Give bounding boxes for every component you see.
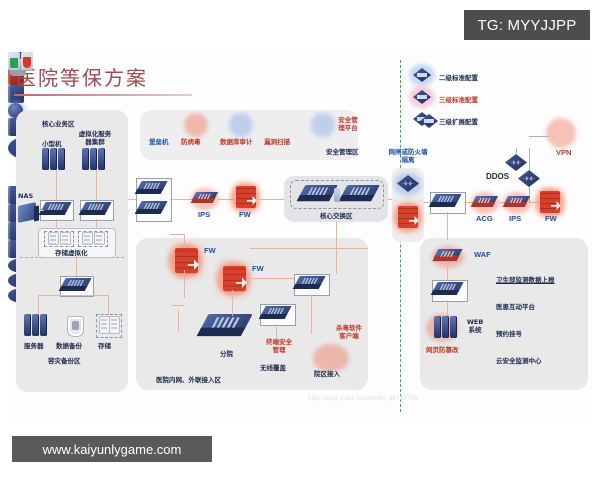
node-label-security-platform: 安全管理平台 <box>336 116 360 132</box>
node-switch-backup <box>63 278 89 293</box>
node-core-switch-a <box>302 185 335 204</box>
link-backupsw-h-right <box>76 295 108 296</box>
node-fw-branch-b-icon <box>223 266 246 291</box>
node-label-service-0: 卫生部监测数据上报 <box>496 274 555 284</box>
zone-label-disaster-backup: 容灾备份区 <box>48 355 81 365</box>
link-zone-up-h <box>170 234 184 235</box>
node-label-terminal-security: 终端安全管理 <box>264 338 294 354</box>
network-architecture-diagram: 医院等保方案 二级标准配置 三级标准配置 三级扩展配置 核心业务区 小型机 <box>8 52 592 424</box>
link-backupsw-to-storage <box>108 295 109 315</box>
diagram-title: 医院等保方案 <box>16 62 148 91</box>
node-switch-core-b <box>83 202 109 217</box>
node-label-antivirus: 防病毒 <box>181 136 201 146</box>
zone-label-hospital-intranet: 医院内网、外联接入区 <box>156 374 221 384</box>
title-underline <box>14 94 192 96</box>
zone-label-core-business: 核心业务区 <box>42 118 75 128</box>
node-label-web-system: WEB系统 <box>464 318 486 334</box>
link-fwB-to-accessA <box>250 278 294 279</box>
node-label-ips-extranet: IPS <box>509 214 521 223</box>
node-nas-icon <box>18 202 40 222</box>
core-switch-stack-link <box>334 188 340 202</box>
link-dmzswitch-to-web <box>447 300 448 316</box>
node-label-branch-hospital: 分院 <box>220 348 233 358</box>
node-label-service-2: 预约挂号 <box>496 328 522 338</box>
link-insurance-to-coop <box>172 305 184 306</box>
node-aggregation-switch-a <box>139 181 165 196</box>
node-minicomputer-icon <box>42 148 68 170</box>
node-label-fw-intranet: FW <box>239 210 251 219</box>
glow-db-audit <box>229 113 253 137</box>
disk-icon-c <box>82 232 93 245</box>
glow-vpn-user <box>546 118 576 148</box>
node-label-backup-server: 服务器 <box>24 340 44 350</box>
link-backupsw-h-left <box>38 295 76 296</box>
node-ddos-icon <box>518 170 540 187</box>
node-branch-switch-stack <box>204 314 248 340</box>
node-switch-core-a <box>43 202 69 217</box>
legend-label-0: 二级标准配置 <box>439 72 478 82</box>
screenshot-root: TG: MYYJJPP www.kaiyunlygame.com 医院等保方案 … <box>0 0 600 480</box>
node-fw-intranet-icon <box>236 186 256 208</box>
node-core-switch-b <box>344 185 377 204</box>
site-watermark-bar: www.kaiyunlygame.com <box>12 436 212 462</box>
link-isp-to-vpn <box>529 136 549 137</box>
node-backup-server-icon <box>24 314 50 336</box>
node-label-tamper-proof: 网页防篡改 <box>426 344 459 354</box>
link-backupsw-to-server <box>38 295 39 315</box>
disk-icon-d <box>94 232 105 245</box>
node-intranet-access-switch-b <box>263 306 289 321</box>
node-label-ddos: DDOS <box>486 172 509 181</box>
node-label-data-backup: 数据备份 <box>56 340 82 350</box>
node-data-backup-icon <box>67 316 84 337</box>
node-label-waf: WAF <box>474 250 491 259</box>
zone-label-security-management: 安全管理区 <box>326 146 359 156</box>
link-storage-to-backup-switch <box>76 256 77 278</box>
node-label-service-3: 云安全监测中心 <box>496 355 542 365</box>
node-fw-branch-a-icon <box>175 248 198 273</box>
link-mini-to-switch <box>56 170 57 202</box>
link-fwA-to-insurance <box>184 270 185 298</box>
node-web-system-icon <box>434 316 460 338</box>
disk-icon-b <box>60 232 71 245</box>
link-fwA-horizontal-trunk <box>250 248 368 249</box>
legend-inline-diamond <box>420 114 438 128</box>
glow-sec-platform <box>311 113 335 137</box>
node-label-fw-branch-b: FW <box>252 264 264 273</box>
node-ips-intranet-icon <box>194 192 216 205</box>
link-zone-to-agg <box>128 199 136 200</box>
node-dmz-switch <box>435 282 461 297</box>
node-label-database-audit: 数据库审计 <box>220 136 253 146</box>
node-label-service-1: 医患互动平台 <box>496 301 535 311</box>
node-aggregation-switch-b <box>139 201 165 216</box>
disk-icon-a <box>48 232 59 245</box>
link-nas-to-switch <box>40 210 44 211</box>
link-accessA-down <box>311 294 312 334</box>
node-isolation-firewall-icon <box>398 206 418 228</box>
node-acg-icon <box>474 196 496 209</box>
link-fw-to-corezone <box>258 199 284 200</box>
node-label-vpn: VPN <box>556 148 571 157</box>
link-extswitch-to-waf <box>447 212 448 240</box>
node-label-ips-intranet: IPS <box>198 210 210 219</box>
node-label-acg: ACG <box>476 214 493 223</box>
node-fw-extranet-icon <box>540 191 560 213</box>
legend-swatch-0 <box>413 68 431 82</box>
node-virtualization-cluster-icon <box>82 148 108 170</box>
glow-antivirus <box>184 113 208 137</box>
node-label-storage-virtualization: 存储虚拟化 <box>55 247 88 257</box>
legend-label-2: 三级扩展配置 <box>439 116 478 126</box>
link-vcluster-to-switch <box>96 170 97 202</box>
link-fwB-to-branch <box>232 290 233 316</box>
disk-icon-f <box>109 316 120 334</box>
node-label-backup-storage: 存储 <box>98 340 111 350</box>
link-isp-to-ddos <box>529 148 530 170</box>
node-waf-icon <box>436 249 460 263</box>
node-label-wireless-coverage: 无线覆盖 <box>260 362 286 372</box>
label-isolation-method: 网闸或防火墙隔离 <box>386 148 430 164</box>
node-label-campus-access: 院区接入 <box>314 368 340 378</box>
node-isp-router-icon <box>505 154 527 171</box>
faint-url-watermark: http://blog.csdn.net/weixin_39733745 <box>308 396 418 402</box>
node-intranet-access-switch-a <box>297 276 323 291</box>
node-ips-extranet-icon <box>506 196 528 209</box>
legend-swatch-1 <box>413 90 431 104</box>
node-extranet-switch <box>433 194 459 209</box>
legend-label-1: 三级标准配置 <box>439 94 478 104</box>
link-gateway-to-extswitch <box>424 202 430 203</box>
node-label-antivirus-client: 杀毒软件客户端 <box>334 324 364 340</box>
node-label-nas: NAS <box>18 192 33 200</box>
link-switch-to-storage-b <box>96 219 97 229</box>
link-zone-up <box>184 234 185 248</box>
telegram-watermark-tag: TG: MYYJJPP <box>464 10 590 40</box>
zone-label-core-switching: 核心交换区 <box>320 210 353 220</box>
link-to-bank <box>178 310 179 332</box>
link-switch-to-storage-a <box>56 219 57 229</box>
node-label-vuln-scan: 漏洞扫描 <box>264 136 290 146</box>
node-label-bastion-host: 堡垒机 <box>149 136 169 146</box>
link-isp-to-router <box>516 148 517 154</box>
node-label-fw-branch-a: FW <box>204 246 216 255</box>
node-label-fw-extranet: FW <box>545 214 557 223</box>
node-label-virtualization-cluster: 虚拟化服务器集群 <box>76 130 114 146</box>
link-waf-to-dmzswitch <box>447 266 448 280</box>
node-label-minicomputer: 小型机 <box>42 138 62 148</box>
